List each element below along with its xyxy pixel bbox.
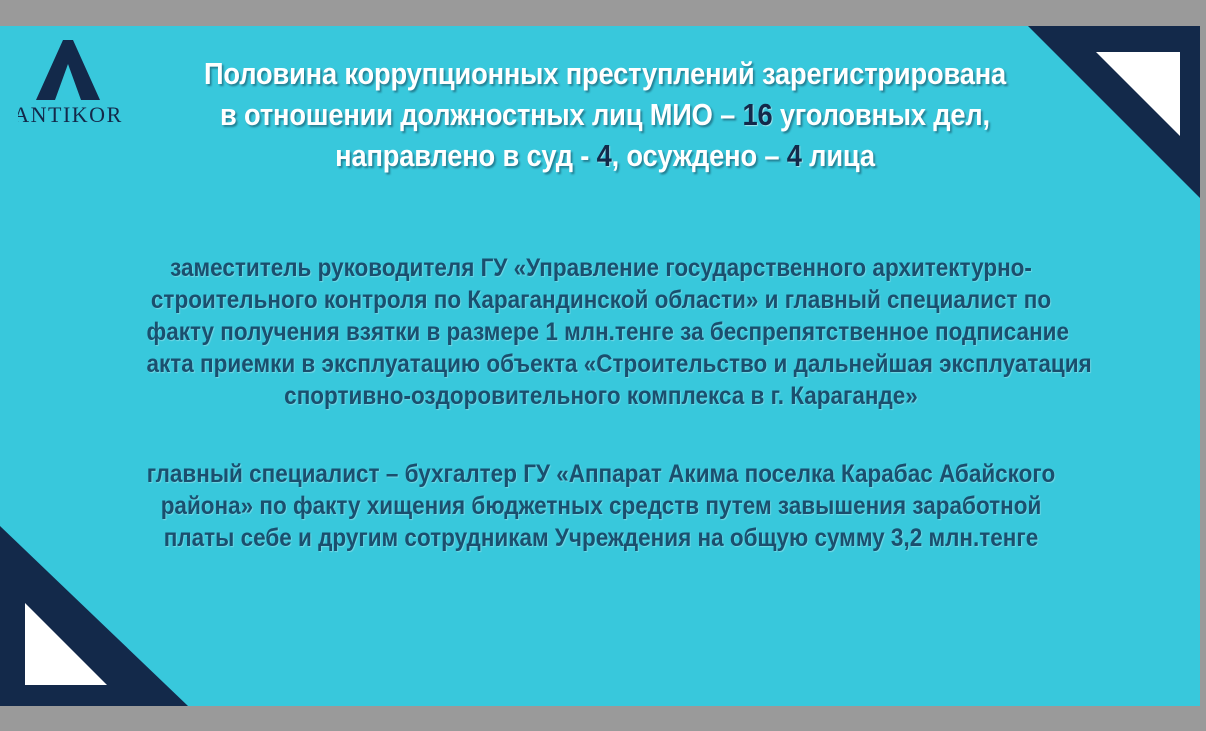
case-line: акта приемки в эксплуатацию объекта «Стр…	[147, 348, 1056, 380]
top-right-white-triangle-icon	[1096, 52, 1180, 136]
headline-figure-sent-to-court: 4	[597, 138, 612, 173]
viewer-frame-right	[1200, 0, 1206, 731]
headline-text: лица	[802, 138, 875, 173]
case-line: района» по факту хищения бюджетных средс…	[147, 490, 1056, 522]
slide-canvas: ANTIKOR Половина коррупционных преступле…	[0, 26, 1200, 706]
headline-line-2: в отношении должностных лиц МИО – 16 уго…	[196, 94, 1014, 135]
headline-figure-convicted: 4	[787, 138, 802, 173]
presentation-slide-viewer: ANTIKOR Половина коррупционных преступле…	[0, 0, 1206, 731]
headline-line-3: направлено в суд - 4, осуждено – 4 лица	[196, 135, 1014, 176]
headline-text: Половина коррупционных преступлений заре…	[204, 56, 1006, 91]
case-line: платы себе и другим сотрудникам Учрежден…	[147, 522, 1056, 554]
headline-line-1: Половина коррупционных преступлений заре…	[196, 53, 1014, 94]
case-line: заместитель руководителя ГУ «Управление …	[147, 252, 1056, 284]
headline-text: уголовных дел,	[773, 97, 990, 132]
antikor-logo-mark-icon: ANTIKOR	[18, 34, 138, 134]
headline-text: направлено в суд -	[335, 138, 596, 173]
case-description-2: главный специалист – бухгалтер ГУ «Аппар…	[147, 458, 1056, 554]
case-line: спортивно-оздоровительного комплекса в г…	[147, 380, 1056, 412]
case-description-1: заместитель руководителя ГУ «Управление …	[147, 252, 1056, 412]
slide-headline: Половина коррупционных преступлений заре…	[196, 53, 1014, 176]
case-line: главный специалист – бухгалтер ГУ «Аппар…	[147, 458, 1056, 490]
antikor-logo: ANTIKOR	[18, 34, 138, 134]
headline-figure-criminal-cases: 16	[743, 97, 773, 132]
bottom-left-white-triangle-icon	[25, 603, 107, 685]
case-line: факту получения взятки в размере 1 млн.т…	[147, 316, 1056, 348]
viewer-frame-bottom	[0, 706, 1206, 731]
case-line: строительного контроля по Карагандинской…	[147, 284, 1056, 316]
headline-text: , осуждено –	[612, 138, 787, 173]
headline-text: в отношении должностных лиц МИО –	[220, 97, 743, 132]
viewer-frame-top	[0, 0, 1206, 26]
antikor-wordmark: ANTIKOR	[18, 102, 123, 127]
